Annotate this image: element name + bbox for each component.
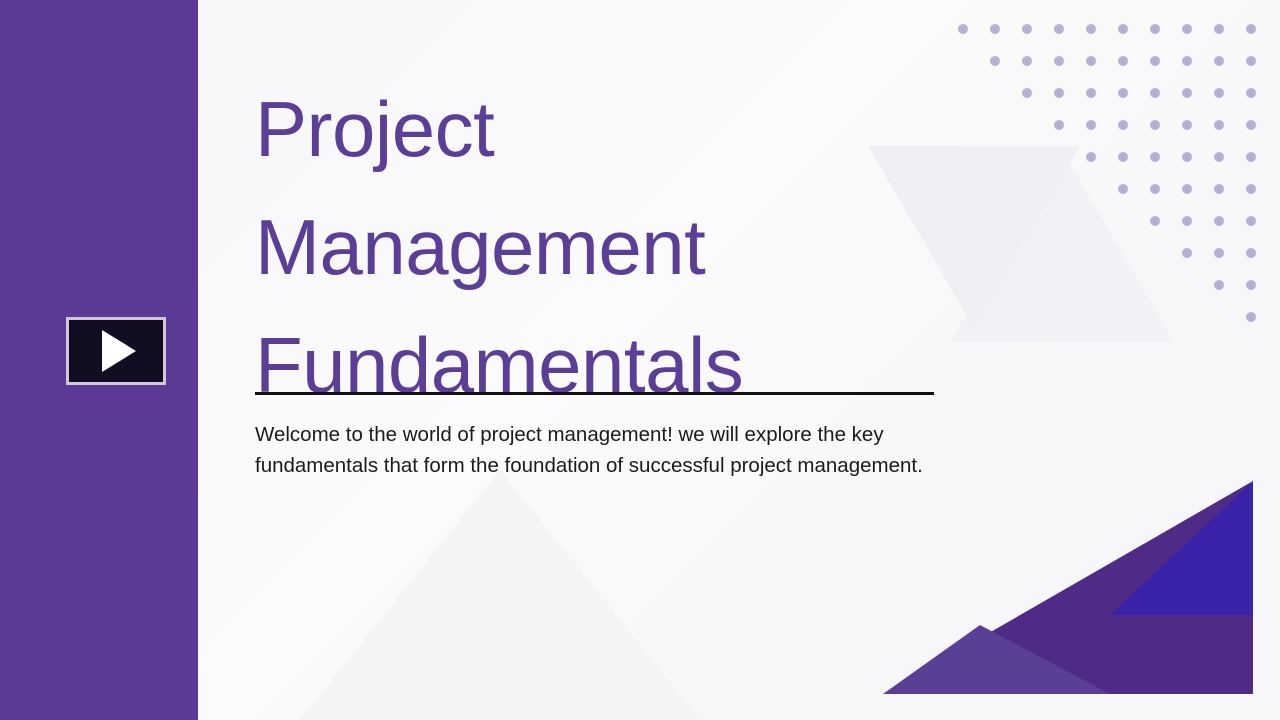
decor-dot [1086,152,1096,162]
decor-dot [1214,152,1224,162]
decor-dot [1246,248,1256,258]
decor-dot [1086,120,1096,130]
decor-dot [1054,120,1064,130]
corner-triangle-decoration [870,455,1280,720]
decor-dot [1246,280,1256,290]
decor-dot [1246,56,1256,66]
decor-dot [1246,24,1256,34]
decor-dot [1054,56,1064,66]
subtitle-text: Welcome to the world of project manageme… [255,419,955,481]
decor-dot [1150,88,1160,98]
decor-dot [1022,56,1032,66]
decor-dot [1214,216,1224,226]
decor-dot [1086,56,1096,66]
decor-dot [990,24,1000,34]
decor-dot [1150,24,1160,34]
decor-dot [1054,24,1064,34]
decor-dot [1182,56,1192,66]
decor-dot [1182,216,1192,226]
decor-dot [1150,120,1160,130]
decor-dot [1214,56,1224,66]
decor-dot [1086,88,1096,98]
ghost-triangle-up-left [300,470,700,720]
decor-dot [990,56,1000,66]
decor-dot [1246,184,1256,194]
decor-dot [1022,88,1032,98]
decor-dot [1182,120,1192,130]
decor-dot [1118,56,1128,66]
decor-dot [1118,184,1128,194]
decor-dot [1182,24,1192,34]
decor-dot [1118,24,1128,34]
decor-dot [1246,120,1256,130]
decor-dot [1182,152,1192,162]
decor-dot [1054,88,1064,98]
decor-dot [1150,184,1160,194]
slide-canvas: Project Management Fundamentals Welcome … [0,0,1280,720]
decor-dot [1182,248,1192,258]
decor-dot [1086,24,1096,34]
decor-dot [1118,152,1128,162]
play-triangle-icon [102,330,136,372]
page-title: Project Management Fundamentals [255,70,955,424]
decor-dot [958,24,968,34]
decor-dot [1214,184,1224,194]
decor-dot [1150,216,1160,226]
decor-dot [1150,152,1160,162]
decor-dot [1214,248,1224,258]
decor-dot [1182,88,1192,98]
decor-dot [1246,216,1256,226]
decor-dot [1150,56,1160,66]
decor-dot [1246,312,1256,322]
play-video-button[interactable] [66,317,166,385]
decor-dot [1214,24,1224,34]
decor-dot [1246,88,1256,98]
decor-dot [1118,88,1128,98]
decor-dot [1118,120,1128,130]
decor-dot [1214,88,1224,98]
decor-dot [1214,280,1224,290]
dot-matrix-decoration [958,24,1258,324]
decor-dot [1182,184,1192,194]
decor-dot [1246,152,1256,162]
decor-dot [1214,120,1224,130]
title-underline-rule [255,392,934,395]
decor-dot [1022,24,1032,34]
